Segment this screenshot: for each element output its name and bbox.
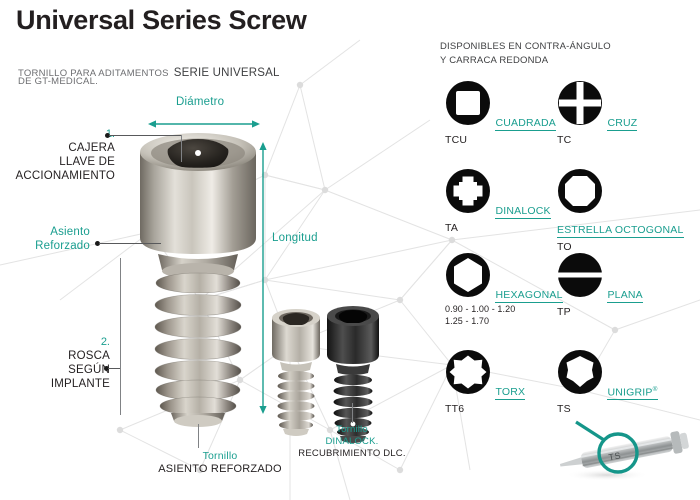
caption-dinalock-line1: Tornillo	[272, 424, 432, 436]
callout-rosca-bracket	[120, 258, 121, 415]
drive-name-estrella-octogonal: ESTRELLA OCTOGONAL	[557, 224, 684, 238]
caption-tornillo-dinalock: Tornillo DINALOCK. RECUBRIMIENTO DLC.	[272, 424, 432, 460]
caption-asiento-leader	[198, 424, 199, 448]
drive-name-unigrip: UNIGRIP®	[607, 386, 657, 401]
drive-code-dinalock: TA	[445, 222, 563, 234]
callout-cajera: 1. CAJERA LLAVE DE ACCIONAMIENTO	[15, 128, 115, 183]
drive-name-cuadrada: CUADRADA	[495, 117, 556, 131]
caption-dinalock-leader	[352, 403, 353, 423]
subtitle-line-2: DE GT-MEDICAL.	[18, 76, 98, 87]
driver-handle-illustration: TS	[545, 420, 700, 490]
callout-asiento-line1: Asiento	[35, 225, 90, 239]
dinalock-socket-icon	[445, 168, 491, 214]
drive-name-hexagonal: HEXAGONAL	[495, 289, 562, 303]
drive-code-plana: TP	[557, 306, 675, 318]
subtitle-series: SERIE UNIVERSAL	[174, 67, 280, 79]
drive-option-torx[interactable]: TORX TT6	[445, 349, 563, 415]
panel-heading-line1: DISPONIBLES EN CONTRA-ÁNGULO	[440, 40, 611, 54]
drive-option-estrella-octogonal[interactable]: ESTRELLA OCTOGONAL TO	[557, 168, 675, 253]
cross-socket-icon	[557, 80, 603, 126]
drive-option-plana[interactable]: PLANA TP	[557, 252, 675, 318]
diameter-arrow	[140, 112, 270, 136]
callout-cajera-line2: LLAVE DE	[15, 155, 115, 169]
drive-code-torx: TT6	[445, 403, 563, 415]
drive-code-unigrip: TS	[557, 403, 675, 415]
drive-name-torx: TORX	[495, 386, 525, 400]
drive-name-dinalock: DINALOCK	[495, 205, 550, 219]
drive-name-unigrip-text: UNIGRIP	[607, 386, 652, 398]
length-arrow	[252, 138, 274, 418]
callout-rosca-number: 2.	[51, 336, 110, 349]
flat-socket-icon	[557, 252, 603, 298]
panel-heading: DISPONIBLES EN CONTRA-ÁNGULO Y CARRACA R…	[440, 40, 611, 68]
callout-asiento: Asiento Reforzado	[35, 225, 90, 253]
torx-socket-icon	[445, 349, 491, 395]
diameter-label: Diámetro	[176, 96, 224, 108]
drive-option-dinalock[interactable]: DINALOCK TA	[445, 168, 563, 234]
panel-heading-line2: Y CARRACA REDONDA	[440, 54, 611, 68]
caption-dinalock-line2: DINALOCK.	[272, 436, 432, 448]
hexagon-socket-icon	[445, 252, 491, 298]
infographic-canvas: Universal Series Screw TORNILLO PARA ADI…	[0, 0, 700, 500]
drive-option-hexagonal[interactable]: HEXAGONAL 0.90 - 1.00 - 1.20 1.25 - 1.70	[445, 252, 563, 328]
page-title: Universal Series Screw	[16, 5, 307, 36]
length-label: Longitud	[272, 232, 318, 244]
callout-rosca-leader	[108, 368, 120, 369]
callout-rosca: 2. ROSCA SEGÚN IMPLANTE	[51, 336, 110, 391]
drive-option-cuadrada[interactable]: CUADRADA TCU	[445, 80, 563, 146]
drive-size-hexagonal-line1: 0.90 - 1.00 - 1.20	[445, 304, 563, 315]
drive-code-cuadrada: TCU	[445, 134, 563, 146]
callout-cajera-leader-drop	[181, 135, 182, 162]
callout-asiento-line2: Reforzado	[35, 239, 90, 253]
callout-cajera-number: 1.	[15, 128, 115, 141]
square-socket-icon	[445, 80, 491, 126]
drive-name-plana: PLANA	[607, 289, 642, 303]
callout-rosca-line1: ROSCA	[51, 349, 110, 363]
drive-option-unigrip[interactable]: UNIGRIP® TS	[557, 349, 675, 415]
unigrip-socket-icon	[557, 349, 603, 395]
octagon-socket-icon	[557, 168, 603, 214]
callout-cajera-line3: ACCIONAMIENTO	[15, 169, 115, 183]
callout-rosca-line3: IMPLANTE	[51, 377, 110, 391]
callout-cajera-line1: CAJERA	[15, 141, 115, 155]
callout-asiento-leader	[99, 243, 161, 244]
callout-rosca-line2: SEGÚN	[51, 363, 110, 377]
drive-name-cruz: CRUZ	[607, 117, 637, 131]
registered-trademark-icon: ®	[653, 386, 658, 393]
caption-dinalock-line3: RECUBRIMIENTO DLC.	[272, 448, 432, 460]
drive-option-cruz[interactable]: CRUZ TC	[557, 80, 675, 146]
callout-cajera-leader	[109, 135, 181, 136]
drive-code-cruz: TC	[557, 134, 675, 146]
drive-size-hexagonal-line2: 1.25 - 1.70	[445, 316, 563, 327]
caption-asiento-line2: ASIENTO REFORZADO	[120, 463, 320, 477]
